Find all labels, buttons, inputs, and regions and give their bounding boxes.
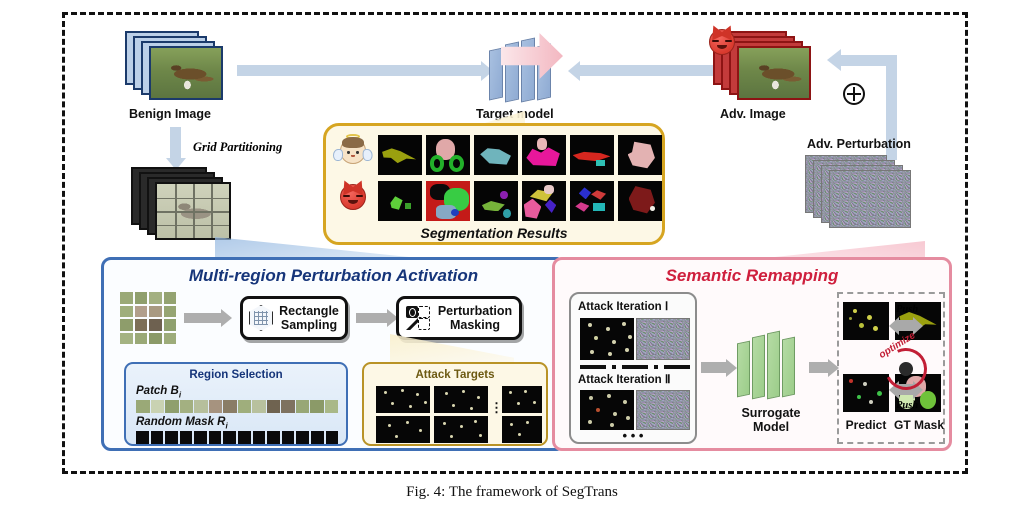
iteration-ellipsis: • • •: [571, 428, 695, 443]
mask-quadrant-icon: [405, 305, 431, 331]
segmentation-cell: [378, 181, 422, 221]
segmentation-cell: [570, 135, 614, 175]
predict-label: Predict: [841, 418, 891, 432]
iteration-2-target-tile: [580, 390, 634, 430]
attack-iteration-2-label: Attack Iteration Ⅱ: [578, 372, 671, 386]
multi-region-perturbation-panel: Multi-region Perturbation Activation Rec…: [101, 257, 566, 451]
attack-target-tile: [502, 416, 542, 443]
attack-target-tile: [376, 386, 430, 413]
arrow-surrogate-to-predict: [809, 362, 829, 373]
bird-subject: [151, 48, 221, 98]
surrogate-model-icon: [737, 330, 803, 402]
push-label-top: Push: [896, 304, 918, 315]
segmentation-cell: [474, 135, 518, 175]
predict-tile-top: [843, 302, 889, 340]
segmentation-cell: [522, 135, 566, 175]
devil-face-icon: [340, 184, 366, 210]
patch-strip: [136, 400, 338, 413]
attack-targets-box: Attack Targets: [362, 362, 548, 446]
perturbation-masking-label: Perturbation Masking: [431, 304, 519, 332]
grid-partitioned-stack: [131, 167, 251, 251]
random-mask-strip: [136, 431, 338, 444]
angel-face-icon: [340, 138, 366, 164]
attack-iteration-2-numeral: Ⅱ: [665, 374, 671, 386]
segmentation-cell: [618, 135, 662, 175]
semantic-remapping-panel: Semantic Remapping Attack Iteration Ⅰ: [552, 257, 952, 451]
arrow-adv-to-target: [579, 65, 719, 76]
segmentation-cell: [378, 135, 422, 175]
attack-iteration-1-label: Attack Iteration Ⅰ: [578, 299, 668, 313]
adv-perturbation-label: Adv. Perturbation: [807, 137, 911, 151]
arrow-perturbation-head: [827, 49, 841, 71]
attack-target-tile: [434, 416, 488, 443]
region-selection-box: Region Selection Patch Bi Random Mask Ri: [124, 362, 348, 446]
push-label-bottom: Push: [896, 400, 918, 411]
grid-hexagon-icon: [249, 305, 273, 331]
benign-image-label: Benign Image: [129, 107, 211, 121]
attack-iteration-1-text: Attack Iteration: [578, 301, 662, 313]
attack-targets-title: Attack Targets: [364, 369, 546, 381]
arrow-sampling-to-masking: [356, 313, 388, 323]
segmentation-cell: [474, 181, 518, 221]
rectangle-sampling-label: Rectangle Sampling: [273, 304, 345, 332]
random-mask-label-text: Random Mask R: [136, 416, 225, 428]
surrogate-model-label: Surrogate Model: [733, 406, 809, 435]
pink-panel-title: Semantic Remapping: [555, 266, 949, 286]
grid-partitioned-image: [155, 182, 231, 240]
segmentation-cell: [426, 181, 470, 221]
adv-image-photo: [737, 46, 811, 100]
segmentation-results-label: Segmentation Results: [326, 225, 662, 241]
patch-label-text: Patch B: [136, 385, 179, 397]
random-mask-label: Random Mask Ri: [136, 416, 228, 430]
adv-perturbation-stack: [805, 155, 925, 235]
figure-dashed-frame: Benign Image Target model Adv. Image Adv…: [62, 12, 968, 474]
random-mask-label-subscript: i: [225, 421, 227, 430]
iteration-1-target-tile: [580, 318, 634, 360]
attack-iteration-box: Attack Iteration Ⅰ Attack Iteration Ⅱ: [569, 292, 697, 444]
attack-target-tile: [434, 386, 488, 413]
predict-tile-bottom: [843, 374, 889, 412]
figure-caption: Fig. 4: The framework of SegTrans: [0, 484, 1024, 501]
attack-targets-ellipsis: ⋮: [490, 400, 503, 416]
bird-subject: [739, 48, 809, 98]
adv-image-label: Adv. Image: [720, 107, 786, 121]
attack-target-tile: [502, 386, 542, 413]
benign-image-stack: [125, 31, 231, 103]
adv-image-stack: [713, 31, 823, 105]
segmentation-cell: [522, 181, 566, 221]
segmentation-cell: [618, 181, 662, 221]
blue-panel-title: Multi-region Perturbation Activation: [104, 266, 563, 286]
arrow-grid-partitioning: [170, 127, 181, 159]
gt-mask-label: GT Mask: [891, 418, 947, 432]
arrow-iterations-to-surrogate: [701, 362, 727, 373]
benign-image-photo: [149, 46, 223, 100]
attack-iteration-1-numeral: Ⅰ: [665, 301, 668, 313]
iteration-2-noise-tile: [636, 390, 690, 430]
segmentation-cell: [570, 181, 614, 221]
patch-label-subscript: i: [179, 390, 181, 399]
attack-iteration-2-text: Attack Iteration: [578, 374, 662, 386]
segmentation-cell: [426, 135, 470, 175]
segmentation-results-panel: Segmentation Results: [323, 123, 665, 245]
arrow-patch-to-sampling: [184, 313, 222, 323]
perturbation-masking-box[interactable]: Perturbation Masking: [396, 296, 522, 340]
arrow-benign-to-target: [237, 65, 482, 76]
patch-grid: [120, 292, 176, 344]
patch-label: Patch Bi: [136, 385, 181, 399]
devil-face-icon: [709, 29, 735, 55]
grid-partitioning-label: Grid Partitioning: [193, 140, 282, 155]
region-selection-title: Region Selection: [126, 369, 346, 381]
noise-tile: [829, 170, 911, 228]
rectangle-sampling-box[interactable]: Rectangle Sampling: [240, 296, 348, 340]
iteration-divider: [580, 365, 690, 369]
plus-operator-icon: [843, 83, 865, 105]
iteration-1-noise-tile: [636, 318, 690, 360]
attack-target-tile: [376, 416, 430, 443]
